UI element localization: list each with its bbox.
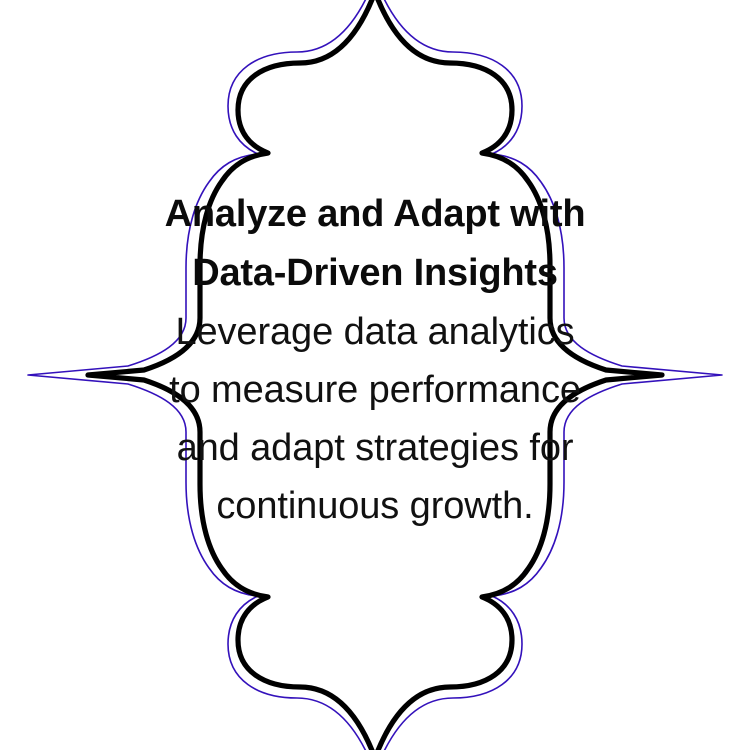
text-block: Analyze and Adapt with Data-Driven Insig… (120, 185, 630, 535)
page-title: Analyze and Adapt with Data-Driven Insig… (120, 185, 630, 303)
decorative-quote-card: Analyze and Adapt with Data-Driven Insig… (0, 0, 750, 750)
body-paragraph: Leverage data analytics to measure perfo… (120, 303, 630, 535)
